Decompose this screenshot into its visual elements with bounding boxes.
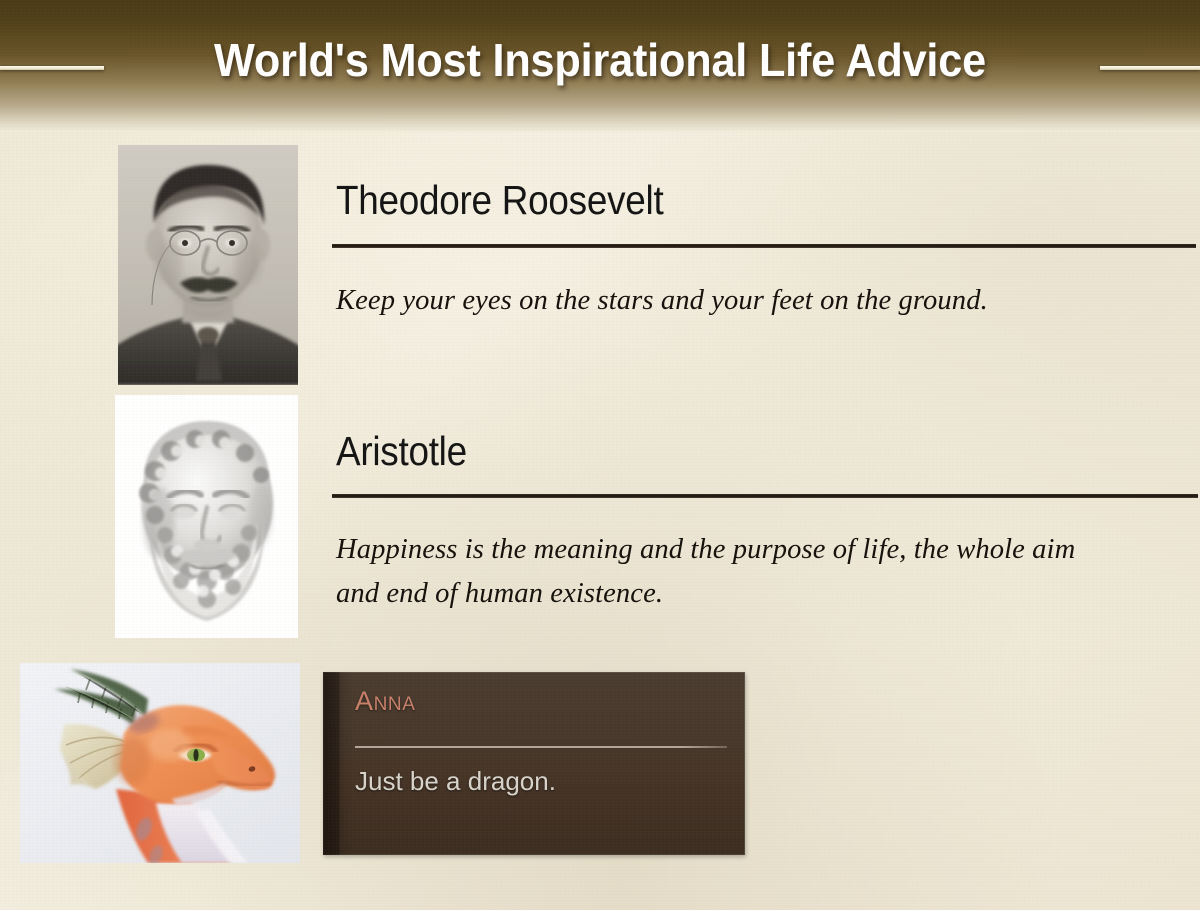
quote-text: Happiness is the meaning and the purpose… xyxy=(336,527,1114,615)
dialog-left-shade xyxy=(323,672,353,855)
dialog-speaker-name: Anna xyxy=(355,686,416,717)
slide-canvas: World's Most Inspirational Life Advice xyxy=(0,0,1200,910)
quote-text: Keep your eyes on the stars and your fee… xyxy=(336,278,1183,322)
portrait-dragon xyxy=(20,663,300,863)
quote-divider xyxy=(332,494,1198,498)
portrait-aristotle xyxy=(115,395,298,638)
dialog-divider xyxy=(355,746,727,748)
theodore-roosevelt-photo-icon xyxy=(118,145,298,385)
quote-author-name: Aristotle xyxy=(336,427,467,475)
quote-divider xyxy=(332,244,1196,248)
dialog-body-text: Just be a dragon. xyxy=(355,764,556,798)
aristotle-bust-photo-icon xyxy=(115,395,298,638)
game-dialog-box: Anna Just be a dragon. xyxy=(323,672,745,855)
quote-author-name: Theodore Roosevelt xyxy=(336,176,663,224)
page-title: World's Most Inspirational Life Advice xyxy=(36,32,1164,88)
header-banner: World's Most Inspirational Life Advice xyxy=(0,0,1200,132)
portrait-theodore-roosevelt xyxy=(118,145,298,385)
orange-dragon-head-icon xyxy=(20,663,300,863)
